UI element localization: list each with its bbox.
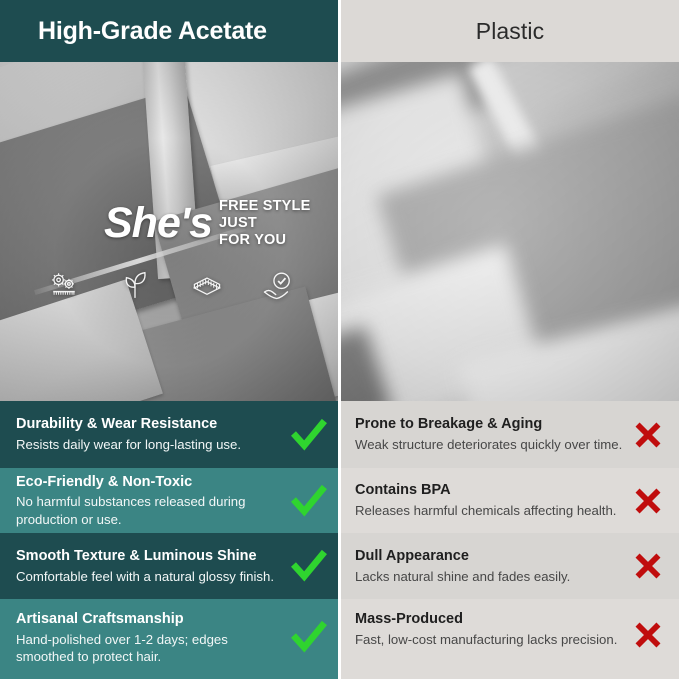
brand-lockup: She's FREE STYLE JUST FOR YOU	[104, 198, 310, 249]
feature-title: Eco-Friendly & Non-Toxic	[16, 473, 284, 492]
cross-icon	[629, 616, 667, 654]
plastic-drawback-row-3: Dull Appearance Lacks natural shine and …	[341, 533, 679, 599]
drawback-text: Prone to Breakage & Aging Weak structure…	[355, 415, 623, 453]
drawback-description: Weak structure deteriorates quickly over…	[355, 436, 623, 454]
image-row: She's FREE STYLE JUST FOR YOU	[0, 62, 679, 401]
header-cell-acetate: High-Grade Acetate	[0, 0, 338, 62]
plastic-column-title: Plastic	[476, 18, 544, 45]
plastic-drawback-row-2: Contains BPA Releases harmful chemicals …	[341, 468, 679, 533]
check-icon	[290, 618, 328, 656]
table-row: Smooth Texture & Luminous Shine Comforta…	[0, 533, 679, 599]
check-icon	[290, 416, 328, 454]
plastic-drawback-row-1: Prone to Breakage & Aging Weak structure…	[341, 401, 679, 468]
plastic-product-photo	[341, 62, 679, 401]
acetate-feature-row-2: Eco-Friendly & Non-Toxic No harmful subs…	[0, 468, 338, 533]
table-row: Eco-Friendly & Non-Toxic No harmful subs…	[0, 468, 679, 533]
brand-tagline-line-1: FREE STYLE	[219, 198, 310, 214]
drawback-description: Lacks natural shine and fades easily.	[355, 568, 623, 586]
cross-icon	[629, 416, 667, 454]
feature-description: Resists daily wear for long-lasting use.	[16, 436, 284, 454]
feature-description: Hand-polished over 1-2 days; edges smoot…	[16, 631, 284, 666]
header-cell-plastic: Plastic	[341, 0, 679, 62]
feature-text: Eco-Friendly & Non-Toxic No harmful subs…	[16, 473, 284, 529]
plastic-drawback-row-4: Mass-Produced Fast, low-cost manufacturi…	[341, 599, 679, 679]
drawback-title: Dull Appearance	[355, 547, 623, 566]
cross-icon	[629, 482, 667, 520]
hand-check-icon	[260, 270, 296, 300]
feature-title: Durability & Wear Resistance	[16, 415, 284, 434]
feature-text: Durability & Wear Resistance Resists dai…	[16, 415, 284, 453]
check-icon	[290, 547, 328, 585]
acetate-product-photo: She's FREE STYLE JUST FOR YOU	[0, 62, 338, 401]
brand-tagline-line-2: JUST	[219, 215, 257, 231]
gears-icon	[46, 270, 82, 300]
brand-name: She's	[104, 202, 212, 245]
layered-material-icon	[189, 270, 225, 300]
drawback-description: Fast, low-cost manufacturing lacks preci…	[355, 631, 623, 649]
feature-title: Smooth Texture & Luminous Shine	[16, 547, 284, 566]
acetate-feature-row-3: Smooth Texture & Luminous Shine Comforta…	[0, 533, 338, 599]
acetate-feature-row-1: Durability & Wear Resistance Resists dai…	[0, 401, 338, 468]
plastic-photo-vignette	[341, 62, 679, 401]
feature-description: Comfortable feel with a natural glossy f…	[16, 568, 284, 586]
cross-icon	[629, 547, 667, 585]
feature-text: Artisanal Craftsmanship Hand-polished ov…	[16, 610, 284, 666]
drawback-text: Contains BPA Releases harmful chemicals …	[355, 481, 623, 519]
check-icon	[290, 482, 328, 520]
comparison-infographic: High-Grade Acetate Plastic She's	[0, 0, 679, 679]
brand-tagline-line-3: FOR YOU	[219, 232, 286, 248]
comparison-table: Durability & Wear Resistance Resists dai…	[0, 401, 679, 679]
acetate-column-title: High-Grade Acetate	[38, 17, 267, 46]
drawback-title: Contains BPA	[355, 481, 623, 500]
table-row: Artisanal Craftsmanship Hand-polished ov…	[0, 599, 679, 679]
feature-description: No harmful substances released during pr…	[16, 493, 284, 528]
table-row: Durability & Wear Resistance Resists dai…	[0, 401, 679, 468]
brand-tagline: FREE STYLE JUST FOR YOU	[219, 198, 310, 249]
feature-text: Smooth Texture & Luminous Shine Comforta…	[16, 547, 284, 585]
feature-title: Artisanal Craftsmanship	[16, 610, 284, 629]
drawback-title: Prone to Breakage & Aging	[355, 415, 623, 434]
leaf-icon	[117, 270, 153, 300]
drawback-text: Dull Appearance Lacks natural shine and …	[355, 547, 623, 585]
feature-icon-row	[46, 270, 296, 300]
acetate-feature-row-4: Artisanal Craftsmanship Hand-polished ov…	[0, 599, 338, 679]
drawback-description: Releases harmful chemicals affecting hea…	[355, 502, 623, 520]
drawback-text: Mass-Produced Fast, low-cost manufacturi…	[355, 610, 623, 648]
drawback-title: Mass-Produced	[355, 610, 623, 629]
header-row: High-Grade Acetate Plastic	[0, 0, 679, 62]
